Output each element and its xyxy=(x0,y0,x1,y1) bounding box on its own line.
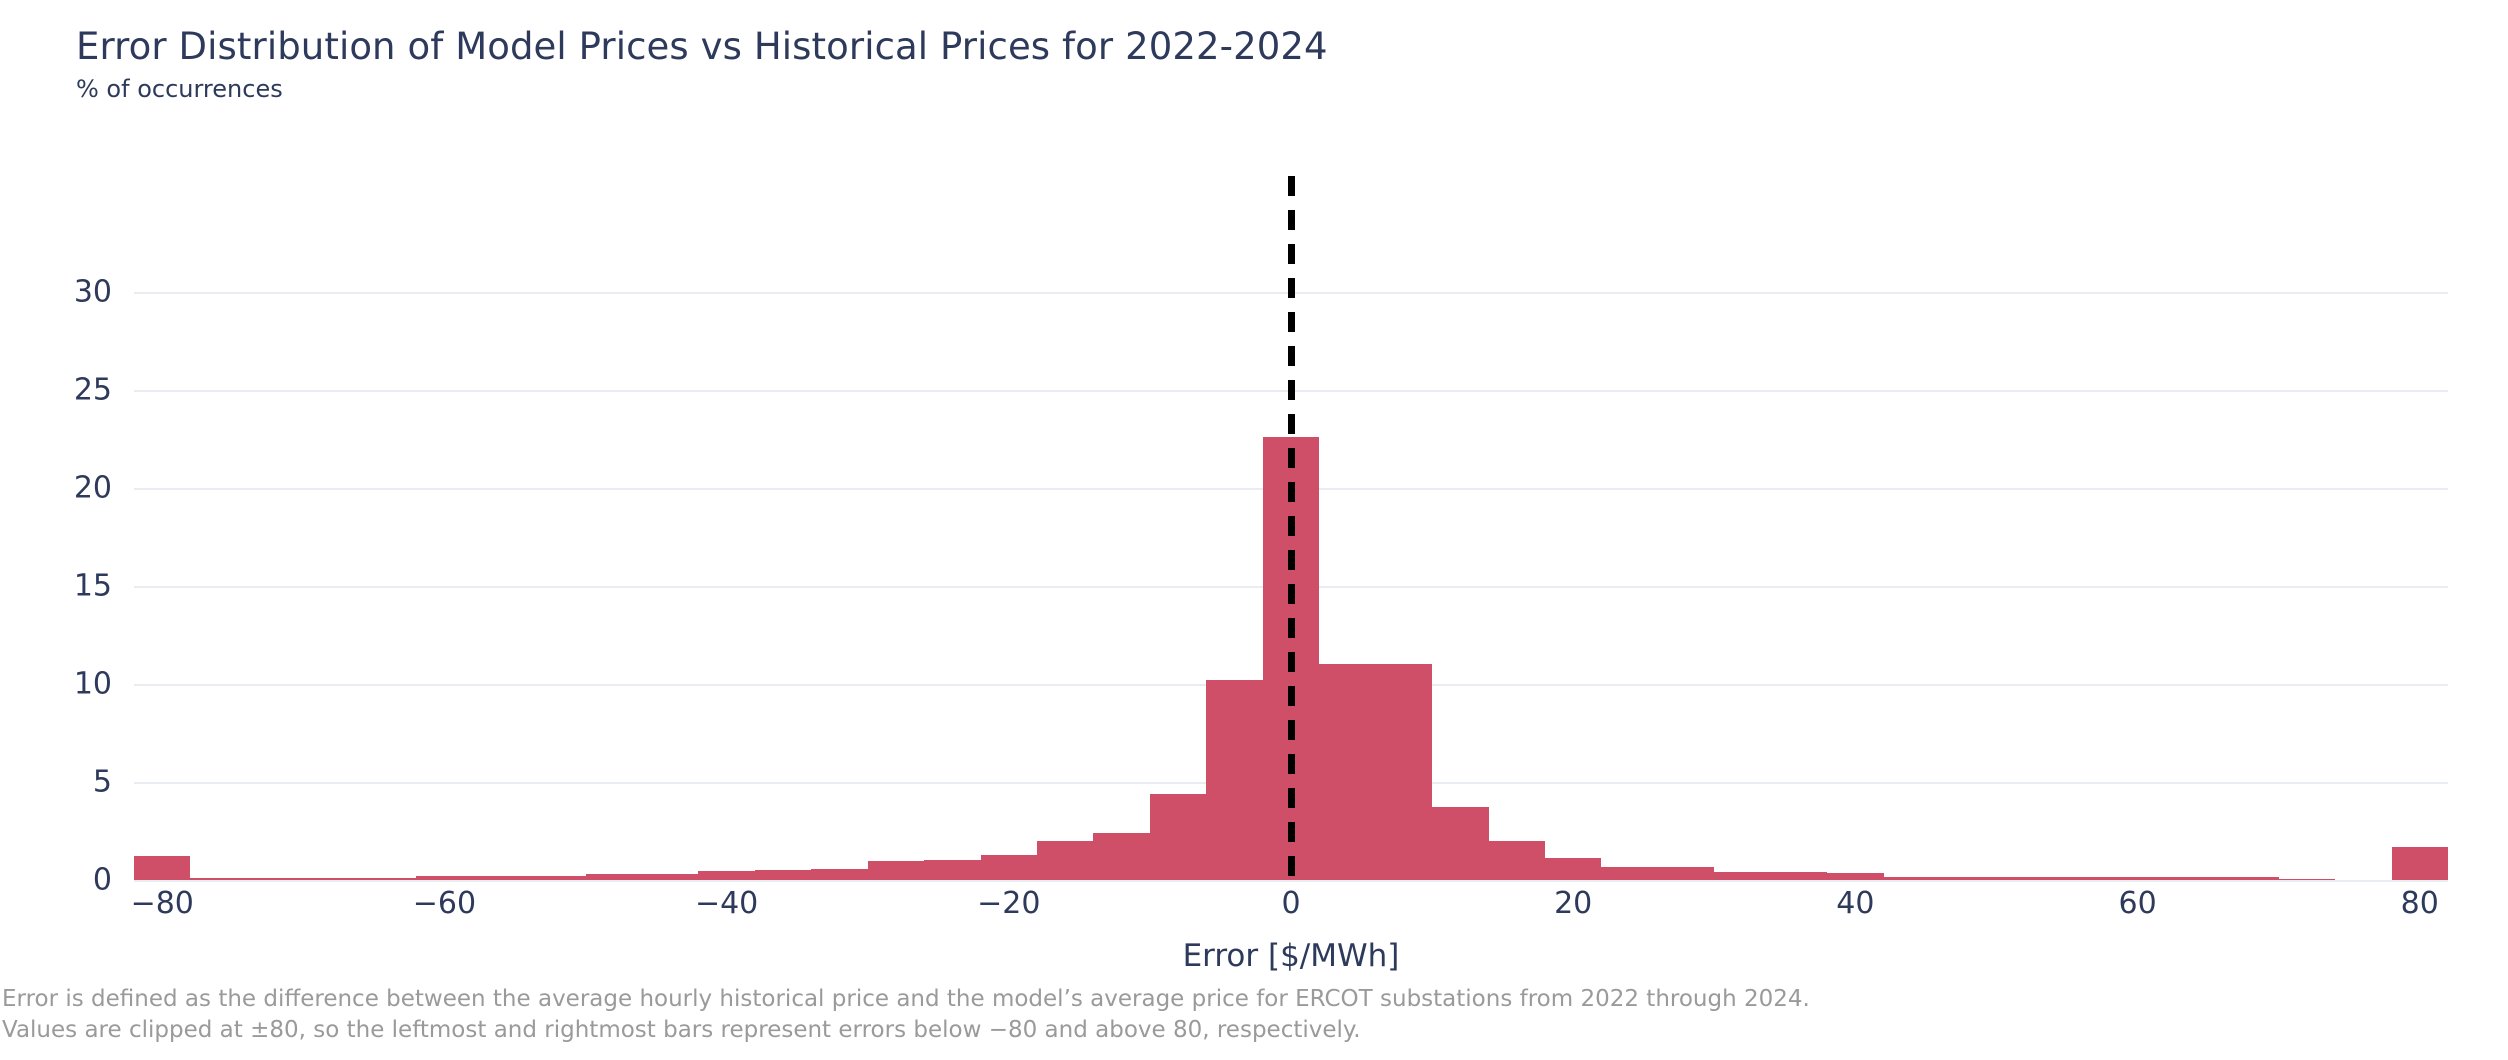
y-axis-tick-label: 20 xyxy=(74,470,112,505)
y-axis-tick-label: 15 xyxy=(74,568,112,603)
histogram-bar xyxy=(473,876,529,880)
histogram-bar xyxy=(755,870,811,880)
x-axis-tick-label: −40 xyxy=(695,886,758,921)
chart-subtitle: % of occurrences xyxy=(76,75,1328,103)
x-axis-label: Error [$/MWh] xyxy=(134,938,2448,974)
plot-area xyxy=(134,190,2448,880)
footnote-line-2: Values are clipped at ±80, so the leftmo… xyxy=(2,1015,1810,1046)
histogram-bar xyxy=(1037,841,1093,880)
histogram-bar xyxy=(529,876,585,880)
histogram-bar xyxy=(981,855,1037,880)
histogram-bar xyxy=(1827,873,1883,880)
x-axis-tick-label: 20 xyxy=(1554,886,1592,921)
footnote: Error is defined as the difference betwe… xyxy=(2,984,1810,1045)
histogram-bar xyxy=(303,878,359,880)
histogram-bar xyxy=(416,876,472,880)
histogram-bar xyxy=(1319,664,1375,880)
histogram-bar xyxy=(1940,877,1996,880)
page-title: Error Distribution of Model Prices vs Hi… xyxy=(76,26,1328,69)
histogram-bar xyxy=(811,869,867,880)
x-axis-tick-label: −60 xyxy=(413,886,476,921)
x-axis-tick-label: −20 xyxy=(977,886,1040,921)
histogram-bar xyxy=(2166,877,2222,880)
histogram-bar xyxy=(586,874,642,880)
histogram-bar xyxy=(642,874,698,880)
x-axis-tick-label: 80 xyxy=(2401,886,2439,921)
histogram-bar xyxy=(1996,877,2052,880)
histogram-bar xyxy=(924,860,980,880)
gridline xyxy=(134,880,2448,882)
histogram-bar xyxy=(1206,680,1262,880)
histogram-bar xyxy=(868,861,924,880)
histogram-bar xyxy=(1601,867,1657,880)
histogram-bar xyxy=(360,878,416,880)
histogram-bar xyxy=(1545,858,1601,880)
footnote-line-1: Error is defined as the difference betwe… xyxy=(2,984,1810,1015)
histogram-bar xyxy=(1771,872,1827,880)
zero-reference-line xyxy=(1288,176,1295,880)
x-axis-tick-label: 0 xyxy=(1281,886,1300,921)
histogram-bar xyxy=(1489,841,1545,880)
x-axis-tick-label: 60 xyxy=(2118,886,2156,921)
histogram-bar xyxy=(2222,877,2278,880)
y-axis-tick-label: 30 xyxy=(74,274,112,309)
y-axis: 051015202530 xyxy=(0,190,134,880)
x-axis-tick-label: 40 xyxy=(1836,886,1874,921)
histogram-bar xyxy=(2109,877,2165,880)
histogram-bar xyxy=(134,856,190,880)
y-axis-tick-label: 0 xyxy=(93,863,112,898)
histogram-bar xyxy=(1884,877,1940,880)
histogram-bar xyxy=(1432,807,1488,880)
y-axis-tick-label: 10 xyxy=(74,666,112,701)
chart-header: Error Distribution of Model Prices vs Hi… xyxy=(76,26,1328,103)
histogram-bar xyxy=(1093,833,1149,880)
histogram-bar xyxy=(1658,867,1714,880)
histogram-bar xyxy=(2053,877,2109,880)
y-axis-tick-label: 5 xyxy=(93,764,112,799)
histogram-bar xyxy=(2279,879,2335,880)
histogram-bar xyxy=(190,878,246,880)
histogram-bar xyxy=(247,878,303,880)
histogram-bar xyxy=(1376,664,1432,880)
histogram-bar xyxy=(1714,872,1770,880)
x-axis: −80−60−40−20020406080 xyxy=(134,886,2448,930)
y-axis-tick-label: 25 xyxy=(74,372,112,407)
histogram-bar xyxy=(698,871,754,880)
histogram-bar xyxy=(1150,794,1206,880)
x-axis-tick-label: −80 xyxy=(131,886,194,921)
histogram-bar xyxy=(2392,847,2448,880)
